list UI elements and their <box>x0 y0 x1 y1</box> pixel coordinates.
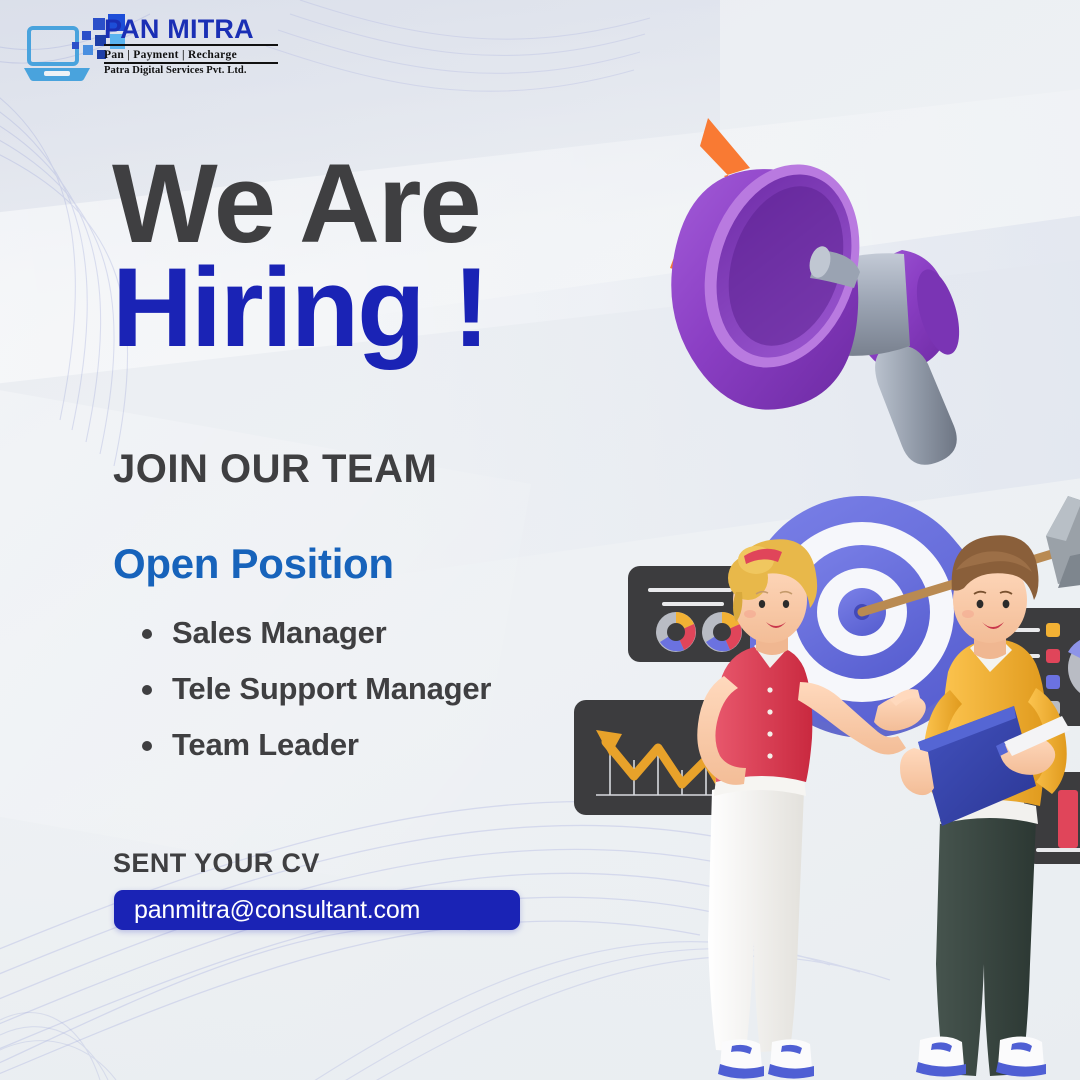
shoe <box>768 1039 814 1078</box>
line-chart-panel <box>574 700 744 815</box>
list-item: Team Leader <box>134 727 491 763</box>
cv-email: panmitra@consultant.com <box>134 896 420 925</box>
logo-subtitle: Patra Digital Services Pvt. Ltd. <box>104 65 280 76</box>
legend-pie-panel <box>996 608 1080 726</box>
shoe <box>996 1036 1046 1076</box>
arrow-icon <box>862 496 1080 612</box>
cv-label: SENT YOUR CV <box>113 848 320 879</box>
open-positions-list: Sales Manager Tele Support Manager Team … <box>134 615 491 783</box>
cv-email-pill[interactable]: panmitra@consultant.com <box>114 890 520 930</box>
shoe <box>718 1039 764 1078</box>
section-title: Open Position <box>113 540 394 588</box>
logo-name: PAN MITRA <box>104 16 280 43</box>
logo-divider <box>104 44 278 46</box>
background-facet <box>0 781 820 1080</box>
headline-block: We Are Hiring ! <box>112 152 488 361</box>
man-character <box>900 535 1070 1076</box>
lightning-bolt-icon <box>700 118 772 228</box>
tablet-icon <box>918 706 1036 826</box>
hiring-poster: PAN MITRA Pan | Payment | Recharge Patra… <box>0 0 1080 1080</box>
headline-line-2: Hiring ! <box>112 255 488 361</box>
shoe <box>916 1036 966 1076</box>
target-bullseye-icon <box>744 496 1080 738</box>
megaphone-handle <box>875 345 957 465</box>
megaphone-icon <box>670 118 967 465</box>
brand-logo: PAN MITRA Pan | Payment | Recharge Patra… <box>22 10 277 92</box>
woman-character <box>697 539 926 1078</box>
stylus-icon <box>996 716 1070 756</box>
logo-divider <box>104 62 278 64</box>
lightning-bolt-icon <box>670 252 762 300</box>
list-item: Tele Support Manager <box>134 671 491 707</box>
bar-chart-panel <box>1024 772 1080 864</box>
logo-tagline: Pan | Payment | Recharge <box>104 49 280 61</box>
headline-line-1: We Are <box>112 152 488 255</box>
donut-chart-panel <box>628 566 750 662</box>
list-item: Sales Manager <box>134 615 491 651</box>
subheading: JOIN OUR TEAM <box>113 447 437 492</box>
